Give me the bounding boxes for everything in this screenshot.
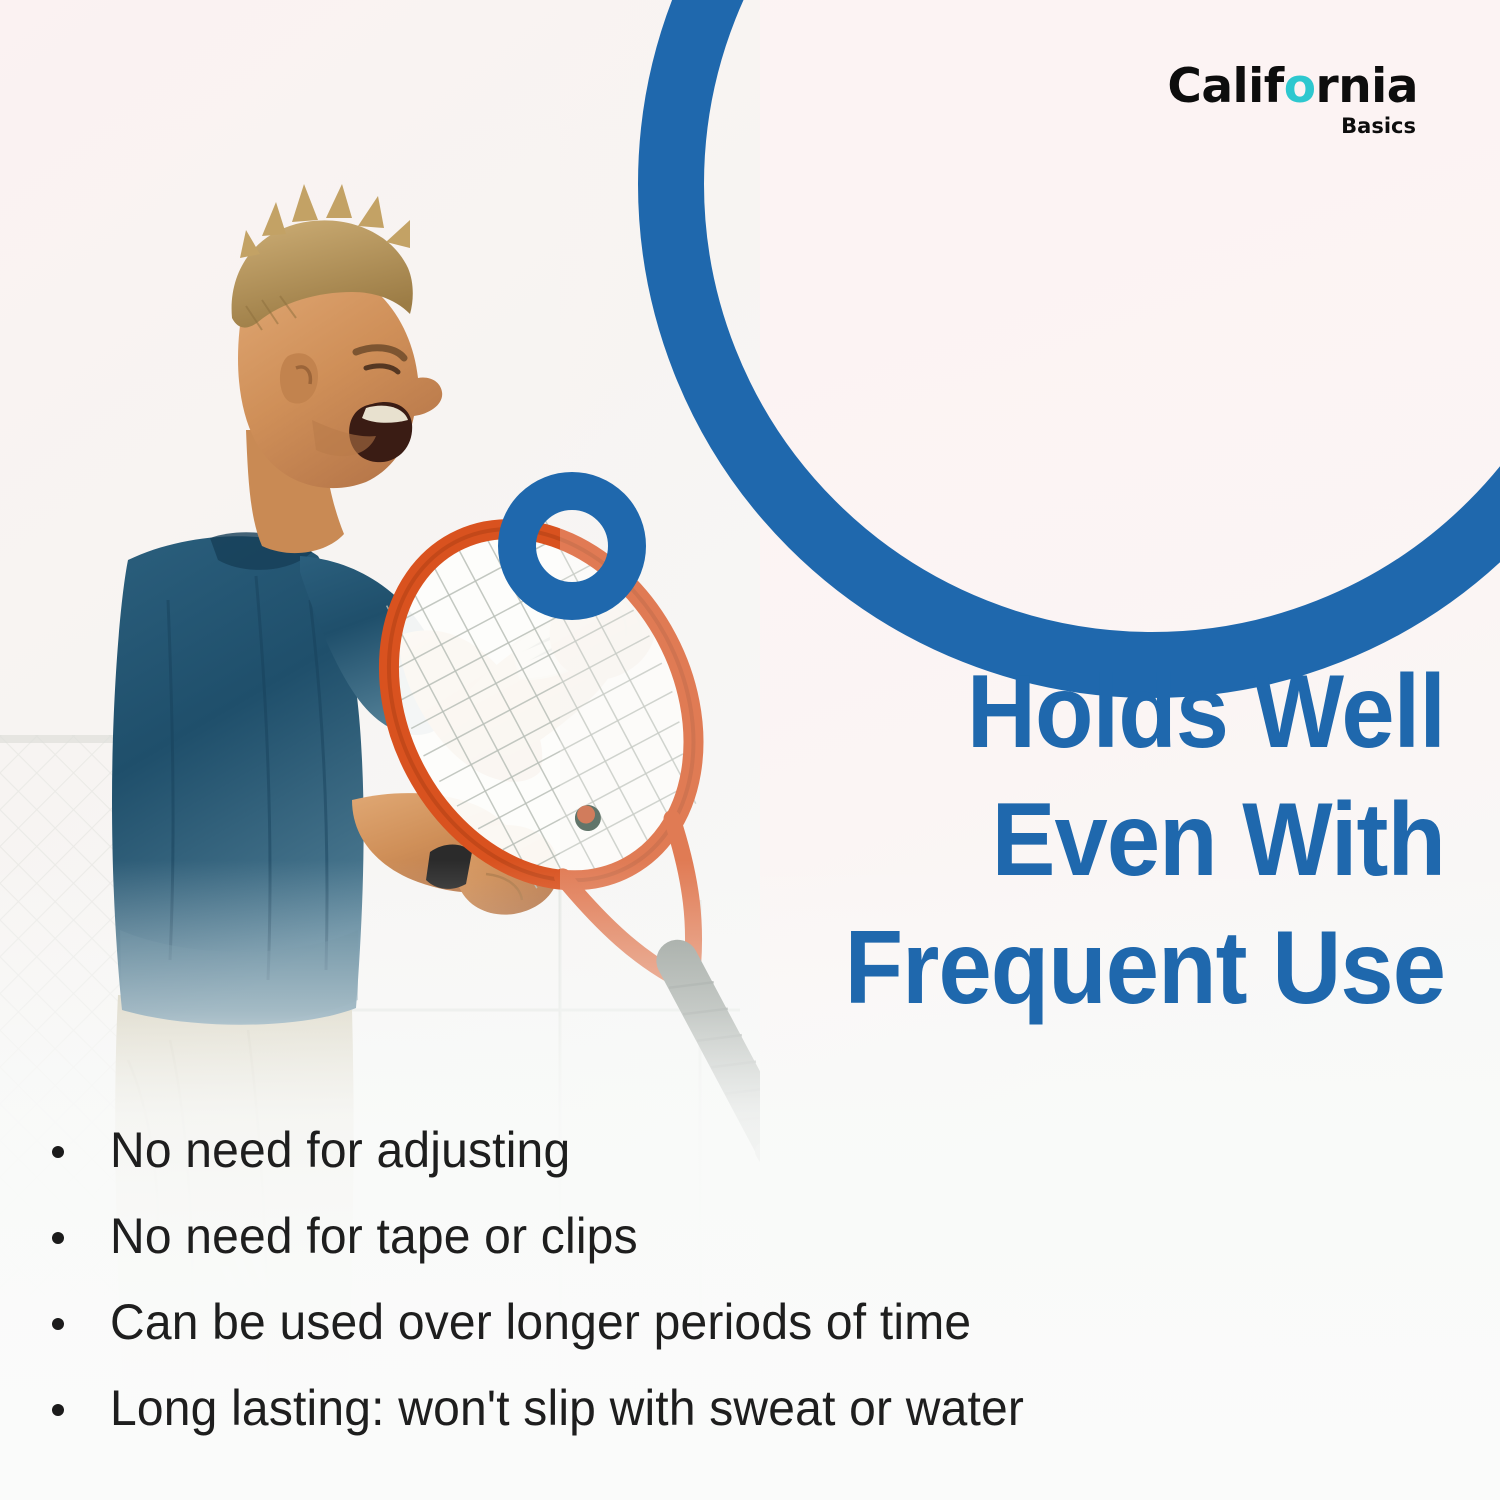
list-item-label: No need for adjusting xyxy=(110,1122,570,1178)
list-item-label: Long lasting: won't slip with sweat or w… xyxy=(110,1380,1024,1436)
brand-logo: California Basics xyxy=(1167,62,1418,138)
list-item: No need for tape or clips xyxy=(52,1208,1302,1294)
list-item-label: No need for tape or clips xyxy=(110,1208,638,1264)
brand-name-accent-letter: o xyxy=(1284,59,1316,114)
brand-name-part1: Calif xyxy=(1167,59,1283,114)
bullet-dot-icon xyxy=(52,1146,64,1158)
bullet-dot-icon xyxy=(52,1318,64,1330)
feature-bullet-list: No need for adjusting No need for tape o… xyxy=(52,1122,1302,1466)
list-item: Long lasting: won't slip with sweat or w… xyxy=(52,1380,1302,1466)
list-item: Can be used over longer periods of time xyxy=(52,1294,1302,1380)
headline-line-1: Holds Well xyxy=(668,648,1445,776)
headline-line-2: Even With xyxy=(668,776,1445,904)
list-item-label: Can be used over longer periods of time xyxy=(110,1294,971,1350)
small-blue-ring-decoration xyxy=(498,472,646,620)
brand-tagline: Basics xyxy=(1167,114,1416,138)
product-feature-banner: California Basics Holds Well Even With F… xyxy=(0,0,1500,1500)
bullet-dot-icon xyxy=(52,1232,64,1244)
bullet-dot-icon xyxy=(52,1404,64,1416)
brand-name: California xyxy=(1167,62,1418,112)
brand-name-part2: rnia xyxy=(1316,59,1418,114)
headline-line-3: Frequent Use xyxy=(668,904,1445,1032)
list-item: No need for adjusting xyxy=(52,1122,1302,1208)
page-title: Holds Well Even With Frequent Use xyxy=(668,648,1445,1032)
